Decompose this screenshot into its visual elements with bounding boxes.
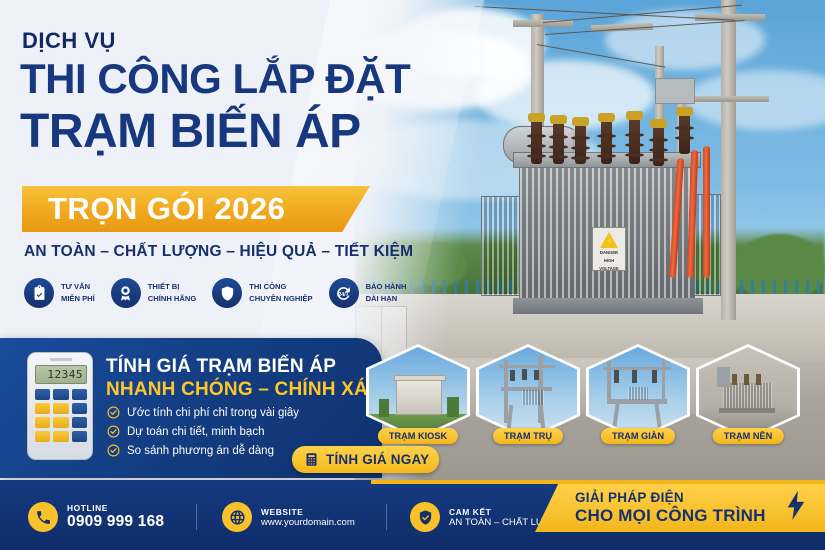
hv-bushing [601, 120, 612, 164]
calculator-subtitle: NHANH CHÓNG – CHÍNH XÁC [106, 379, 382, 401]
calculate-price-button-label: TÍNH GIÁ NGAY [326, 452, 429, 467]
check-circle-icon [107, 444, 120, 457]
hv-bushing [629, 118, 640, 164]
check-circle-icon [107, 406, 120, 419]
feature-label: TƯ VẤN MIỄN PHÍ [61, 281, 95, 305]
footer-contact-label: HOTLINE [67, 503, 164, 513]
calculator-icon [304, 452, 319, 467]
calculator-speaker [50, 358, 72, 361]
calculator-key [72, 389, 87, 400]
calculator-benefit-list: Ước tính chi phí chỉ trong vài giây Dự t… [107, 406, 299, 463]
list-item-label: So sánh phương án dễ dàng [127, 445, 274, 457]
shield-check-icon [410, 502, 440, 532]
footer-divider [386, 504, 387, 530]
station-card-kiosk[interactable]: TRẠM KIOSK [366, 344, 470, 440]
list-item: So sánh phương án dễ dàng [107, 444, 299, 457]
list-item-label: Dự toán chi tiết, minh bạch [127, 426, 264, 438]
calculator-key [35, 417, 50, 428]
hero-content: DỊCH VỤ THI CÔNG LẮP ĐẶT TRẠM BIẾN ÁP TR… [0, 0, 460, 340]
footer-top-accent-line [0, 480, 825, 484]
feature-label-line2: CHÍNH HÃNG [148, 293, 197, 305]
svg-text:24/7: 24/7 [338, 292, 348, 298]
lightning-bolt-icon [785, 490, 807, 527]
feature-label: THI CÔNG CHUYÊN NGHIỆP [249, 281, 312, 305]
package-badge: TRỌN GÓI 2026 [22, 186, 370, 232]
calculator-key [53, 389, 68, 400]
transformer-tank: DANGER HIGH VOLTAGE [519, 160, 695, 300]
feature-label: BẢO HÀNH DÀI HẠN [366, 281, 407, 305]
station-card-label: TRẠM TRỤ [493, 428, 563, 444]
danger-sign-line2: HIGH [604, 258, 614, 264]
hero-title-line1: THI CÔNG LẮP ĐẶT [20, 58, 410, 100]
feature-item-genuine-equipment: THIẾT BỊ CHÍNH HÃNG [111, 278, 197, 308]
footer-divider [196, 504, 197, 530]
footer-contact-text: HOTLINE 0909 999 168 [67, 503, 164, 531]
24-7-support-icon: 24/7 [329, 278, 359, 308]
calculator-key [35, 403, 50, 414]
package-badge-label: TRỌN GÓI 2026 [48, 191, 285, 227]
calculator-display: 12345 [35, 365, 87, 384]
station-card-platform[interactable]: TRẠM GIÀN [586, 344, 690, 440]
shield-icon [212, 278, 242, 308]
clipboard-check-icon [24, 278, 54, 308]
list-item: Ước tính chi phí chỉ trong vài giây [107, 406, 299, 419]
feature-item-warranty: 24/7 BẢO HÀNH DÀI HẠN [329, 278, 407, 308]
hv-bushing [653, 126, 664, 166]
feature-label-line2: MIỄN PHÍ [61, 293, 95, 305]
calculate-price-button[interactable]: TÍNH GIÁ NGAY [292, 446, 439, 473]
station-photo-platform [589, 347, 687, 437]
calculator-key [53, 417, 68, 428]
feature-label-line2: DÀI HẠN [366, 293, 407, 305]
danger-sign-line1: DANGER [600, 250, 618, 256]
hero-subline: AN TOÀN – CHẤT LƯỢNG – HIỆU QUẢ – TIẾT K… [24, 243, 413, 261]
footer-contact-website[interactable]: WEBSITE www.yourdomain.com [222, 502, 355, 532]
footer-slogan-banner: GIẢI PHÁP ĐIỆN CHO MỌI CÔNG TRÌNH [535, 484, 825, 532]
footer-contact-text: WEBSITE www.yourdomain.com [261, 507, 355, 528]
footer-contact-hotline[interactable]: HOTLINE 0909 999 168 [28, 502, 164, 532]
check-circle-icon [107, 425, 120, 438]
calculator-key [53, 403, 68, 414]
station-type-cards: TRẠM KIOSK TRẠM TRỤ [366, 344, 800, 440]
promotional-banner: DANGER HIGH VOLTAGE DỊCH VỤ THI CÔNG LẮP… [0, 0, 825, 550]
feature-label: THIẾT BỊ CHÍNH HÃNG [148, 281, 197, 305]
list-item: Dự toán chi tiết, minh bạch [107, 425, 299, 438]
station-card-label: TRẠM KIOSK [378, 428, 458, 444]
feature-label-line1: THIẾT BỊ [148, 281, 197, 293]
calculator-key [72, 431, 87, 442]
station-card-ground[interactable]: TRẠM NỀN [696, 344, 800, 440]
station-card-label: TRẠM NỀN [713, 428, 784, 444]
hexagon-frame [476, 344, 580, 440]
hexagon-frame [366, 344, 470, 440]
footer-contact-value: www.yourdomain.com [261, 517, 355, 528]
calculator-key [53, 431, 68, 442]
danger-sign-line3: VOLTAGE [599, 266, 619, 272]
hv-bushing [531, 120, 542, 164]
hero-title-line2: TRẠM BIẾN ÁP [20, 108, 361, 156]
footer-contact-label: WEBSITE [261, 507, 355, 517]
hv-bushing [679, 114, 690, 154]
calculator-key [35, 431, 50, 442]
station-card-pole[interactable]: TRẠM TRỤ [476, 344, 580, 440]
globe-icon [222, 502, 252, 532]
calculator-key [35, 389, 50, 400]
calculator-keypad [35, 389, 87, 442]
calculator-title: TÍNH GIÁ TRẠM BIẾN ÁP [106, 356, 336, 378]
junction-box [655, 78, 695, 104]
calculator-key [72, 403, 87, 414]
phone-icon [28, 502, 58, 532]
hexagon-frame [586, 344, 690, 440]
feature-label-line1: THI CÔNG [249, 281, 312, 293]
danger-high-voltage-sign: DANGER HIGH VOLTAGE [592, 227, 626, 271]
award-medal-icon [111, 278, 141, 308]
crossarm [691, 96, 769, 102]
calculator-key [72, 417, 87, 428]
hero-kicker: DỊCH VỤ [22, 28, 116, 54]
hv-bushing [575, 124, 586, 164]
feature-item-consultation: TƯ VẤN MIỄN PHÍ [24, 278, 95, 308]
calculator-display-value: 12345 [47, 368, 83, 381]
feature-item-professional: THI CÔNG CHUYÊN NGHIỆP [212, 278, 312, 308]
station-photo-ground [699, 347, 797, 437]
calculator-body: 12345 [27, 352, 93, 460]
feature-label-line1: BẢO HÀNH [366, 281, 407, 293]
feature-list: TƯ VẤN MIỄN PHÍ THIẾT BỊ CHÍNH HÃNG [24, 278, 407, 308]
warning-triangle-icon [600, 232, 618, 248]
footer-contact-value: 0909 999 168 [67, 513, 164, 531]
station-photo-pole [479, 347, 577, 437]
hv-bushing [553, 122, 564, 164]
station-photo-kiosk [369, 347, 467, 437]
power-cable [703, 146, 710, 278]
feature-label-line2: CHUYÊN NGHIỆP [249, 293, 312, 305]
feature-label-line1: TƯ VẤN [61, 281, 95, 293]
list-item-label: Ước tính chi phí chỉ trong vài giây [127, 407, 299, 419]
transformer-base [513, 298, 703, 314]
calculator-illustration: 12345 [27, 352, 93, 460]
hexagon-frame [696, 344, 800, 440]
station-card-label: TRẠM GIÀN [601, 428, 675, 444]
